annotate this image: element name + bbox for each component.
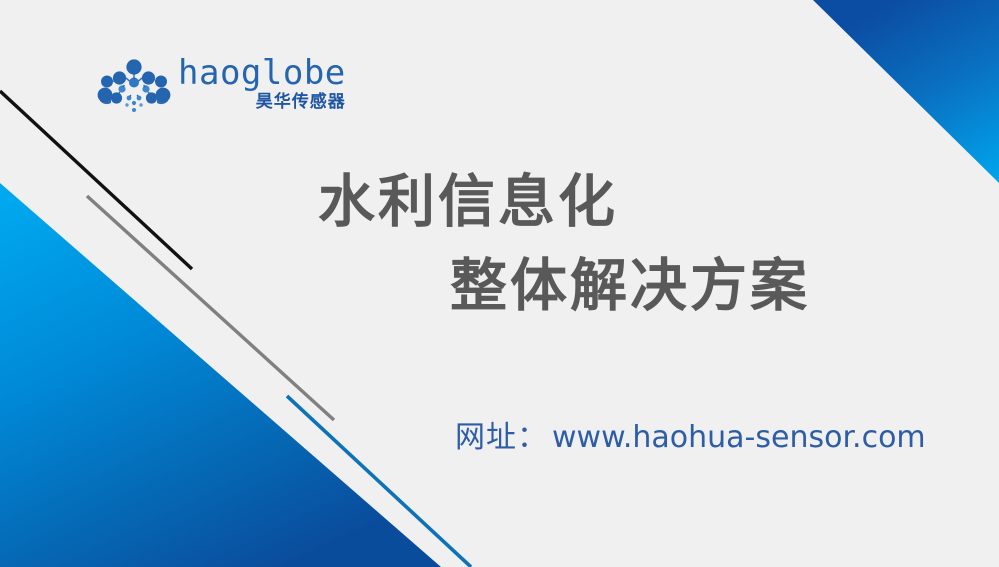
brand-logo: haoglobe 昊华传感器 xyxy=(96,56,346,120)
logo-wordmark: haoglobe xyxy=(178,56,346,90)
haoglobe-dot-cluster-icon xyxy=(96,58,172,120)
title-line-2: 整体解决方案 xyxy=(0,244,999,328)
top-right-blue-triangle xyxy=(813,0,999,183)
logo-text-block: haoglobe 昊华传感器 xyxy=(178,56,346,112)
website-label: 网址： xyxy=(455,418,548,458)
page-title: 水利信息化 整体解决方案 xyxy=(0,160,999,328)
logo-subtitle-chinese: 昊华传感器 xyxy=(256,93,346,112)
title-line-1: 水利信息化 xyxy=(0,160,999,244)
title-slide: haoglobe 昊华传感器 水利信息化 整体解决方案 网址： www.haoh… xyxy=(0,0,999,567)
website-line: 网址： www.haohua-sensor.com xyxy=(455,418,926,458)
website-url[interactable]: www.haohua-sensor.com xyxy=(552,418,926,458)
blue-diagonal-line xyxy=(287,396,471,567)
